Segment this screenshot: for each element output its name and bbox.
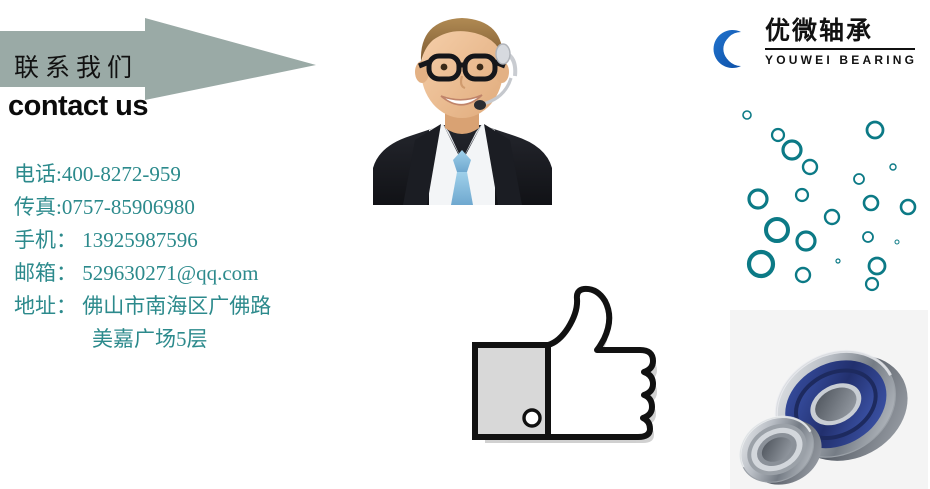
decor-ring [772,129,784,141]
decor-ring [864,196,878,210]
decor-ring [749,190,767,208]
decor-ring [890,164,896,170]
banner-title-en: contact us [8,90,148,123]
decor-ring [867,122,883,138]
banner-title-cn: 联系我们 [14,48,138,84]
thumbs-up-icon [462,282,687,472]
decor-ring [749,252,773,276]
decor-ring [797,232,815,250]
decor-ring [895,240,899,244]
contact-line-address-2: 美嘉广场5层 [14,323,364,356]
bearing-illustration-icon [730,310,928,489]
decor-ring [825,210,839,224]
decor-ring [869,258,885,274]
contact-line-email: 邮箱： 529630271@qq.com [14,257,364,290]
contact-line-fax: 传真:0757-85906980 [14,191,364,224]
contact-line-address: 地址： 佛山市南海区广佛路 [14,290,364,323]
logo-name-cn: 优微轴承 [765,16,917,46]
contact-line-phone: 电话:400-8272-959 [14,158,364,191]
logo-wordmark: 优微轴承 YOUWEI BEARING [765,16,917,67]
logo-divider [765,48,915,50]
decor-ring [766,219,788,241]
decor-ring [796,189,808,201]
decor-ring [863,232,873,242]
youwei-swoosh-icon [703,20,761,78]
decor-ring [803,160,817,174]
decor-ring [901,200,915,214]
decor-ring [796,268,810,282]
agent-illustration-icon [355,0,570,205]
company-logo: 优微轴承 YOUWEI BEARING [703,16,918,86]
customer-service-agent-photo [355,0,570,205]
decor-ring [743,111,751,119]
decor-ring [866,278,878,290]
contact-line-mobile: 手机： 13925987596 [14,224,364,257]
decor-ring [783,141,801,159]
rings-icon [720,100,930,300]
contact-us-banner-page: 联系我们 contact us 电话:400-8272-959 传真:0757-… [0,0,930,489]
ball-bearing-photo [730,310,928,489]
decor-ring [854,174,864,184]
contact-details-list: 电话:400-8272-959 传真:0757-85906980 手机： 139… [14,158,364,356]
decor-ring [836,259,840,263]
logo-name-en: YOUWEI BEARING [765,53,917,67]
decorative-rings-pattern [720,100,930,300]
